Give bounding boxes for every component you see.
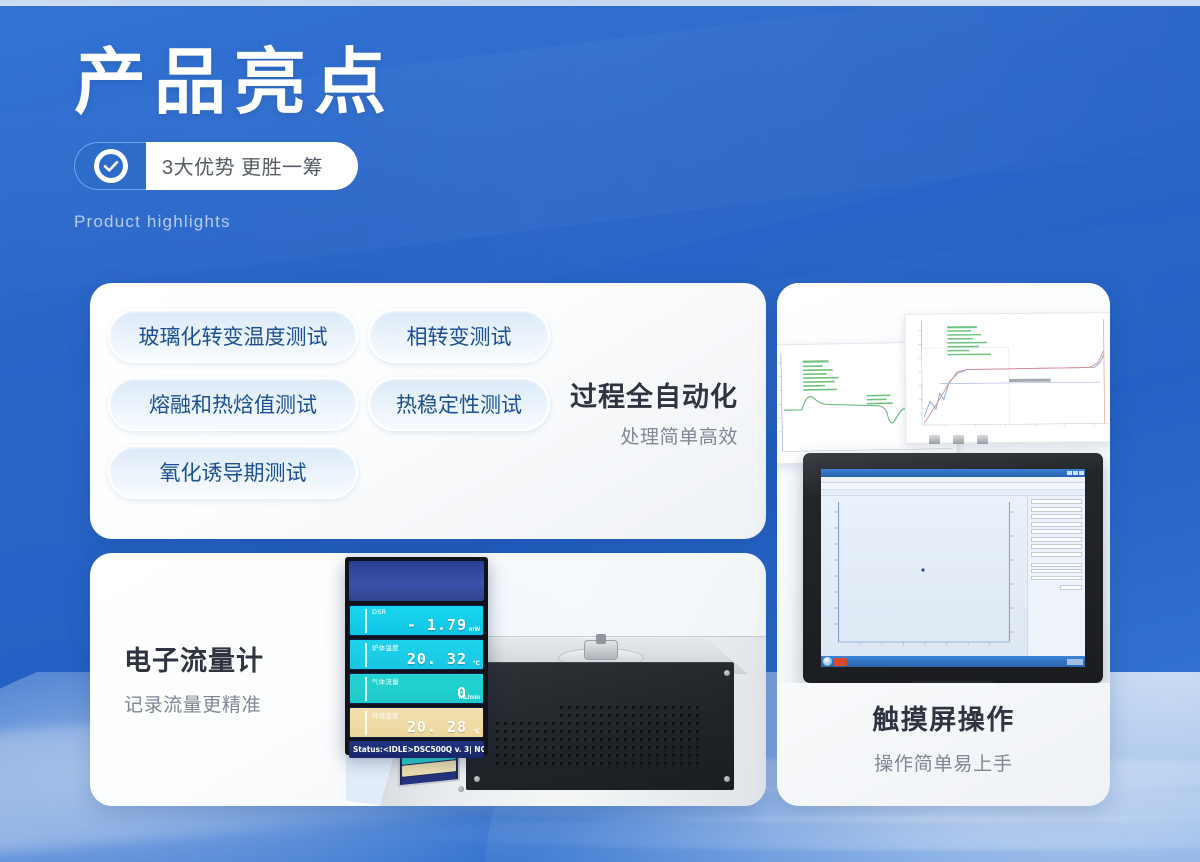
- vent-dot: [672, 722, 675, 725]
- parameter-field[interactable]: [1031, 537, 1082, 542]
- pill-row-1: 玻璃化转变温度测试 相转变测试: [108, 309, 560, 363]
- vent-dot: [656, 714, 659, 717]
- vent-dot: [600, 730, 603, 733]
- fan-streak-3: [400, 816, 1200, 850]
- parameter-field[interactable]: [1031, 499, 1082, 504]
- vent-dot: [624, 754, 627, 757]
- vent-dot: [584, 706, 587, 709]
- furnace-stem: [596, 634, 606, 644]
- vent-dot: [504, 738, 507, 741]
- vent-dot: [576, 714, 579, 717]
- vent-dot: [560, 706, 563, 709]
- vent-dot: [576, 730, 579, 733]
- touchscreen-photo: [777, 283, 1110, 683]
- ventilation-grid: [496, 706, 704, 768]
- parameter-field[interactable]: [1031, 507, 1082, 512]
- reading-label: 炉体温度: [372, 642, 399, 652]
- vent-dot: [640, 714, 643, 717]
- vent-dot: [632, 722, 635, 725]
- vent-dot: [496, 730, 499, 733]
- top-edge-strip: [0, 0, 1200, 6]
- feature-heading: 过程全自动化: [570, 375, 738, 414]
- flow-heading: 电子流量计: [124, 639, 264, 678]
- vent-dot: [648, 730, 651, 733]
- vent-dot: [624, 722, 627, 725]
- badge-label: 3大优势 更胜一筹: [146, 142, 358, 190]
- vent-dot: [576, 762, 579, 765]
- vent-dot: [600, 706, 603, 709]
- vent-dot: [664, 714, 667, 717]
- monitor-screen[interactable]: [821, 469, 1085, 667]
- vent-dot: [608, 714, 611, 717]
- screw-icon: [724, 670, 730, 676]
- vent-dot: [680, 762, 683, 765]
- vent-dot: [640, 706, 643, 709]
- parameter-field[interactable]: [1031, 552, 1082, 557]
- vent-dot: [520, 762, 523, 765]
- parameter-field[interactable]: [1031, 544, 1082, 549]
- vent-dot: [520, 722, 523, 725]
- vent-dot: [608, 738, 611, 741]
- minimize-icon[interactable]: [1067, 471, 1072, 475]
- vent-dot: [512, 754, 515, 757]
- vent-dot: [632, 762, 635, 765]
- vent-dot: [584, 738, 587, 741]
- parameter-field[interactable]: [1031, 514, 1082, 519]
- feature-pill[interactable]: 相转变测试: [368, 309, 550, 363]
- vent-dot: [664, 746, 667, 749]
- vent-dot: [672, 706, 675, 709]
- vent-dot: [680, 738, 683, 741]
- vent-dot: [592, 722, 595, 725]
- reading-value: 20. 28: [407, 718, 467, 736]
- vent-dot: [536, 730, 539, 733]
- feature-pill[interactable]: 氧化诱导期测试: [108, 445, 358, 499]
- vent-dot: [592, 746, 595, 749]
- reading-label: DSR: [372, 608, 386, 616]
- vent-dot: [560, 754, 563, 757]
- window-toolbar[interactable]: [821, 483, 1085, 490]
- reading-gas-flow: 气体流量 0 mL/min: [349, 673, 484, 704]
- vent-dot: [520, 730, 523, 733]
- vent-dot: [656, 730, 659, 733]
- vent-dot: [528, 754, 531, 757]
- vent-dot: [696, 762, 699, 765]
- vent-dot: [656, 754, 659, 757]
- vent-dot: [624, 714, 627, 717]
- dsc-plot-area[interactable]: [821, 496, 1027, 656]
- vent-dot: [560, 730, 563, 733]
- vent-dot: [568, 714, 571, 717]
- vent-dot: [616, 722, 619, 725]
- feature-pill[interactable]: 玻璃化转变温度测试: [108, 309, 358, 363]
- vent-dot: [624, 746, 627, 749]
- reading-label: 环境温度: [372, 710, 399, 720]
- vent-dot: [624, 762, 627, 765]
- vent-dot: [608, 722, 611, 725]
- close-icon[interactable]: [1079, 471, 1084, 475]
- vent-dot: [664, 706, 667, 709]
- vent-dot: [672, 754, 675, 757]
- vent-dot: [520, 754, 523, 757]
- screw-icon: [724, 776, 730, 782]
- vent-dot: [648, 746, 651, 749]
- screw-icon: [474, 776, 480, 782]
- touch-subheading: 操作简单易上手: [777, 749, 1110, 776]
- vent-dot: [496, 746, 499, 749]
- vent-dot: [680, 746, 683, 749]
- vent-dot: [544, 722, 547, 725]
- vent-dot: [568, 746, 571, 749]
- vent-dot: [664, 754, 667, 757]
- vent-dot: [576, 746, 579, 749]
- pill-row-3: 氧化诱导期测试: [108, 445, 560, 499]
- touchscreen-monitor[interactable]: [803, 453, 1103, 683]
- parameter-panel[interactable]: [1027, 496, 1085, 656]
- vent-dot: [672, 730, 675, 733]
- vent-dot: [648, 706, 651, 709]
- vent-dot: [648, 762, 651, 765]
- vent-dot: [568, 738, 571, 741]
- vent-dot: [544, 746, 547, 749]
- feature-subheading: 处理简单高效: [570, 422, 738, 449]
- connector-port-icon: [977, 435, 988, 444]
- vent-dot: [616, 706, 619, 709]
- flow-subheading: 记录流量更精准: [124, 690, 264, 717]
- vent-dot: [664, 762, 667, 765]
- vent-dot: [656, 738, 659, 741]
- pill-row-2: 熔融和热焓值测试 热稳定性测试: [108, 377, 560, 431]
- vent-dot: [552, 762, 555, 765]
- vent-dot: [672, 762, 675, 765]
- vent-dot: [696, 730, 699, 733]
- vent-dot: [584, 754, 587, 757]
- badge-icon-holder: [74, 142, 146, 190]
- vent-dot: [632, 754, 635, 757]
- parameter-field[interactable]: [1031, 563, 1082, 567]
- connector-port-icon: [953, 435, 964, 444]
- advantage-badge: 3大优势 更胜一筹: [74, 142, 358, 190]
- vent-dot: [576, 706, 579, 709]
- vent-dot: [520, 746, 523, 749]
- vent-dot: [616, 762, 619, 765]
- vent-dot: [664, 738, 667, 741]
- vent-dot: [592, 706, 595, 709]
- vent-dot: [680, 722, 683, 725]
- vent-dot: [504, 754, 507, 757]
- screw-icon: [458, 786, 464, 792]
- vent-dot: [688, 762, 691, 765]
- vent-dot: [592, 762, 595, 765]
- page-header: 产品亮点 3大优势 更胜一筹 Product highlights: [74, 44, 714, 232]
- vent-dot: [560, 746, 563, 749]
- vent-dot: [672, 738, 675, 741]
- page-subtitle-en: Product highlights: [74, 212, 714, 232]
- vent-dot: [584, 746, 587, 749]
- vent-dot: [688, 714, 691, 717]
- reading-divider: [365, 711, 367, 735]
- vent-dot: [536, 762, 539, 765]
- parameter-field[interactable]: [1031, 569, 1082, 573]
- vent-dot: [680, 754, 683, 757]
- vent-dot: [552, 722, 555, 725]
- vent-dot: [656, 746, 659, 749]
- vent-dot: [536, 722, 539, 725]
- vent-dot: [600, 738, 603, 741]
- vent-dot: [656, 762, 659, 765]
- vent-dot: [616, 754, 619, 757]
- vent-dot: [560, 722, 563, 725]
- vent-dot: [504, 746, 507, 749]
- vent-dot: [512, 762, 515, 765]
- vent-dot: [688, 706, 691, 709]
- vent-dot: [600, 714, 603, 717]
- vent-dot: [592, 754, 595, 757]
- vent-dot: [648, 722, 651, 725]
- vent-dot: [512, 746, 515, 749]
- vent-dot: [624, 730, 627, 733]
- vent-dot: [688, 738, 691, 741]
- vent-dot: [640, 730, 643, 733]
- vent-dot: [560, 762, 563, 765]
- vent-dot: [608, 730, 611, 733]
- touch-caption: 触摸屏操作 操作简单易上手: [777, 698, 1110, 776]
- vent-dot: [544, 738, 547, 741]
- monitor-stand: [913, 681, 993, 683]
- vent-dot: [528, 746, 531, 749]
- vent-dot: [544, 762, 547, 765]
- vent-dot: [640, 738, 643, 741]
- vent-dot: [616, 746, 619, 749]
- vent-dot: [568, 722, 571, 725]
- vent-dot: [616, 730, 619, 733]
- window-body: [821, 496, 1085, 656]
- vent-dot: [584, 714, 587, 717]
- reading-unit: ℃: [473, 728, 480, 735]
- vent-dot: [512, 738, 515, 741]
- vent-dot: [680, 714, 683, 717]
- vent-dot: [528, 730, 531, 733]
- vent-dot: [496, 762, 499, 765]
- product-highlights-page: 产品亮点 3大优势 更胜一筹 Product highlights 玻璃化转变温…: [0, 0, 1200, 862]
- vent-dot: [568, 754, 571, 757]
- vent-dot: [696, 754, 699, 757]
- vent-dot: [496, 722, 499, 725]
- vent-dot: [568, 706, 571, 709]
- vent-dot: [608, 706, 611, 709]
- vent-dot: [584, 762, 587, 765]
- panel-status-bar: Status:<IDLE>DSC500Q v. 3| NC: [349, 741, 484, 758]
- vent-dot: [544, 754, 547, 757]
- vent-dot: [664, 730, 667, 733]
- taskbar-app-icon[interactable]: [834, 658, 847, 666]
- vent-dot: [640, 746, 643, 749]
- vent-dot: [688, 722, 691, 725]
- vent-dot: [512, 722, 515, 725]
- vent-dot: [568, 762, 571, 765]
- control-panel-display: DSR - 1.79 mW 炉体温度 20. 32 ℃ 气体流量 0 mL/mi…: [345, 557, 488, 755]
- vent-dot: [624, 706, 627, 709]
- page-title: 产品亮点: [74, 44, 714, 120]
- vent-dot: [688, 746, 691, 749]
- touch-heading: 触摸屏操作: [777, 698, 1110, 737]
- vent-dot: [544, 730, 547, 733]
- vent-dot: [512, 730, 515, 733]
- vent-dot: [592, 738, 595, 741]
- feature-caption: 过程全自动化 处理简单高效: [570, 375, 738, 449]
- vent-dot: [536, 746, 539, 749]
- vent-dot: [632, 730, 635, 733]
- reading-ambient-temp: 环境温度 20. 28 ℃: [349, 707, 484, 738]
- vent-dot: [584, 730, 587, 733]
- reading-divider: [365, 677, 367, 701]
- reading-value: - 1.79: [407, 616, 467, 634]
- panel-header-bar: [349, 561, 484, 601]
- vent-dot: [552, 738, 555, 741]
- vent-dot: [616, 738, 619, 741]
- dsc-chart-sheet-2: [904, 312, 1110, 444]
- vent-dot: [608, 746, 611, 749]
- parameter-field[interactable]: [1031, 522, 1082, 527]
- card-touchscreen: 触摸屏操作 操作简单易上手: [777, 283, 1110, 806]
- reading-dsr: DSR - 1.79 mW: [349, 605, 484, 636]
- connector-port-icon: [929, 435, 940, 444]
- vent-dot: [504, 722, 507, 725]
- vent-dot: [528, 722, 531, 725]
- vent-dot: [648, 738, 651, 741]
- vent-dot: [680, 706, 683, 709]
- parameter-field[interactable]: [1031, 529, 1082, 534]
- vent-dot: [576, 754, 579, 757]
- vent-dot: [568, 730, 571, 733]
- vent-dot: [608, 762, 611, 765]
- vent-dot: [528, 738, 531, 741]
- vent-dot: [624, 738, 627, 741]
- vent-dot: [640, 762, 643, 765]
- vent-dot: [536, 754, 539, 757]
- reading-label: 气体流量: [372, 676, 399, 686]
- window-titlebar: [821, 469, 1085, 477]
- vent-dot: [656, 722, 659, 725]
- vent-dot: [552, 754, 555, 757]
- vent-dot: [688, 754, 691, 757]
- vent-dot: [536, 738, 539, 741]
- vent-dot: [640, 754, 643, 757]
- vent-dot: [504, 762, 507, 765]
- vent-dot: [688, 730, 691, 733]
- vent-dot: [664, 722, 667, 725]
- vent-dot: [552, 746, 555, 749]
- vent-dot: [632, 738, 635, 741]
- vent-dot: [672, 714, 675, 717]
- reading-unit: mL/min: [459, 695, 480, 701]
- feature-pill[interactable]: 熔融和热焓值测试: [108, 377, 358, 431]
- maximize-icon[interactable]: [1073, 471, 1078, 475]
- vent-dot: [672, 746, 675, 749]
- vent-dot: [680, 730, 683, 733]
- vent-dot: [648, 714, 651, 717]
- vent-dot: [560, 714, 563, 717]
- vent-dot: [632, 746, 635, 749]
- vent-dot: [552, 730, 555, 733]
- vent-dot: [640, 722, 643, 725]
- taskbar-clock: [1067, 659, 1083, 665]
- check-circle-icon: [94, 149, 128, 183]
- reading-unit: ℃: [473, 660, 480, 667]
- vent-dot: [576, 738, 579, 741]
- vent-dot: [608, 754, 611, 757]
- vent-dot: [592, 730, 595, 733]
- vent-dot: [648, 754, 651, 757]
- vent-dot: [584, 722, 587, 725]
- vent-dot: [600, 762, 603, 765]
- vent-dot: [560, 738, 563, 741]
- windows-taskbar[interactable]: [821, 656, 1085, 667]
- feature-pill[interactable]: 热稳定性测试: [368, 377, 550, 431]
- reading-unit: mW: [469, 627, 480, 633]
- vent-dot: [576, 722, 579, 725]
- card-features: 玻璃化转变温度测试 相转变测试 熔融和热焓值测试 热稳定性测试 氧化诱导期测试 …: [90, 283, 766, 539]
- flow-caption: 电子流量计 记录流量更精准: [124, 639, 264, 717]
- start-button-icon[interactable]: [823, 657, 832, 666]
- vent-dot: [592, 714, 595, 717]
- feature-pill-group: 玻璃化转变温度测试 相转变测试 熔融和热焓值测试 热稳定性测试 氧化诱导期测试: [108, 309, 560, 513]
- panel-readings: DSR - 1.79 mW 炉体温度 20. 32 ℃ 气体流量 0 mL/mi…: [349, 605, 484, 738]
- vent-dot: [696, 722, 699, 725]
- vent-dot: [696, 706, 699, 709]
- vent-dot: [696, 738, 699, 741]
- vent-dot: [600, 746, 603, 749]
- vent-dot: [600, 722, 603, 725]
- vent-dot: [520, 738, 523, 741]
- vent-dot: [696, 746, 699, 749]
- vent-dot: [632, 706, 635, 709]
- vent-dot: [656, 706, 659, 709]
- reading-divider: [365, 609, 367, 633]
- vent-dot: [600, 754, 603, 757]
- apply-button[interactable]: [1060, 585, 1082, 590]
- reading-furnace-temp: 炉体温度 20. 32 ℃: [349, 639, 484, 670]
- reading-value: 20. 32: [407, 650, 467, 668]
- vent-dot: [616, 714, 619, 717]
- vent-dot: [496, 754, 499, 757]
- vent-dot: [496, 738, 499, 741]
- vent-dot: [632, 714, 635, 717]
- reading-divider: [365, 643, 367, 667]
- vent-dot: [504, 730, 507, 733]
- parameter-field[interactable]: [1031, 576, 1082, 580]
- vent-dot: [696, 714, 699, 717]
- vent-dot: [528, 762, 531, 765]
